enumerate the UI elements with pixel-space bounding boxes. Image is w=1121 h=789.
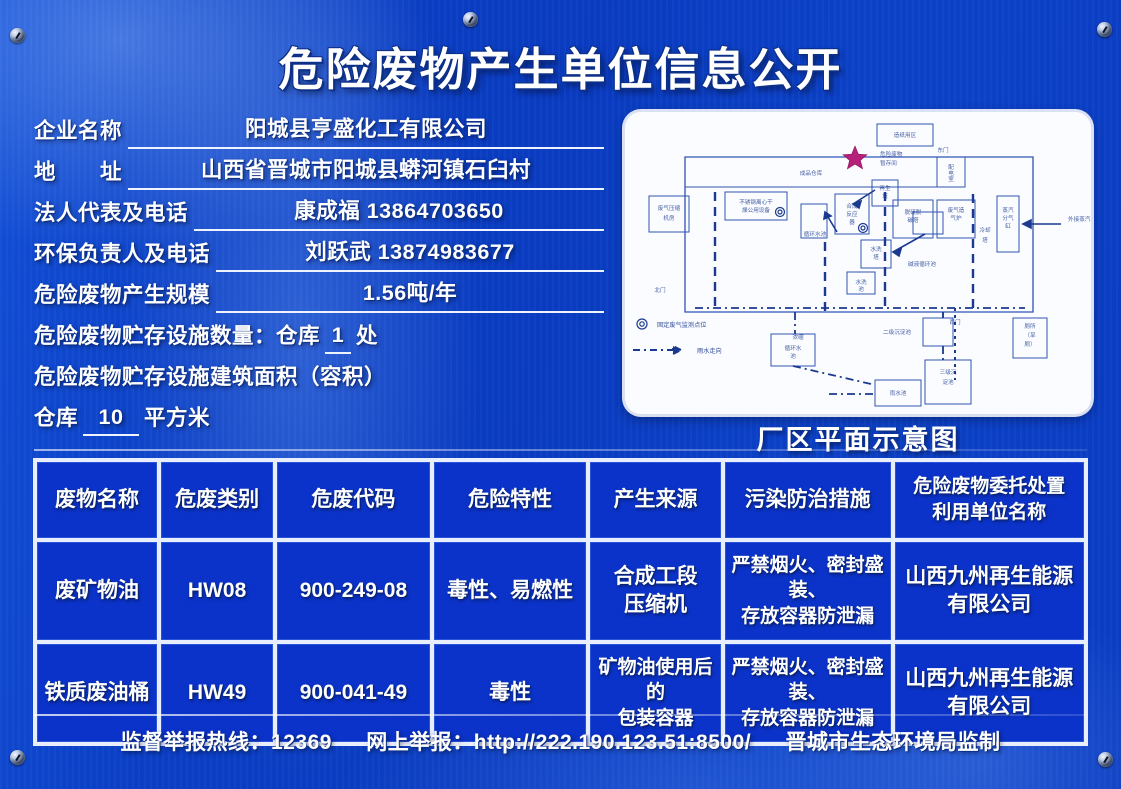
info-value-env-officer: 刘跃武 13874983677 xyxy=(216,235,604,272)
cell-waste-category: HW08 xyxy=(161,542,273,640)
cell-source: 合成工段 压缩机 xyxy=(590,542,720,640)
svg-text:废气造: 废气造 xyxy=(948,206,965,214)
info-unit-storage-area: 平方米 xyxy=(144,401,210,436)
footer-divider xyxy=(34,714,1087,716)
cell-measures-line1: 严禁烟火、密封盛装、 xyxy=(729,553,887,604)
hazardous-waste-room-marker xyxy=(843,146,867,169)
svg-text:脱硫脱: 脱硫脱 xyxy=(905,208,922,216)
svg-text:电: 电 xyxy=(948,169,954,177)
svg-text:池: 池 xyxy=(790,352,796,360)
info-label-storage-area: 危险废物贮存设施建筑面积（容积） xyxy=(34,360,386,395)
svg-text:塔: 塔 xyxy=(873,253,879,261)
th-entrusted-unit-line2: 利用单位名称 xyxy=(898,500,1081,526)
th-waste-code: 危废代码 xyxy=(277,462,430,538)
svg-text:浓缩: 浓缩 xyxy=(792,333,804,341)
svg-text:机房: 机房 xyxy=(663,214,675,222)
cell-entrusted-unit: 山西九州再生能源 有限公司 xyxy=(895,542,1084,640)
svg-text:水洗: 水洗 xyxy=(855,278,867,286)
svg-text:气炉: 气炉 xyxy=(950,214,962,222)
waste-table-head: 废物名称 危废类别 危废代码 危险特性 产生来源 污染防治措施 危险废物委托处置… xyxy=(37,462,1084,538)
info-row-company-name: 企业名称 阳城县亨盛化工有限公司 xyxy=(34,108,604,149)
info-row-storage-area-label: 危险废物贮存设施建筑面积（容积） xyxy=(34,354,604,395)
cell-measures: 严禁烟火、密封盛装、 存放容器防泄漏 xyxy=(725,542,891,640)
svg-text:废气压缩: 废气压缩 xyxy=(658,204,681,212)
info-row-address: 地 址 山西省晋城市阳城县蟒河镇石臼村 xyxy=(34,149,604,190)
th-waste-name: 废物名称 xyxy=(37,462,157,538)
waste-table-container: 废物名称 危废类别 危废代码 危险特性 产生来源 污染防治措施 危险废物委托处置… xyxy=(33,458,1088,746)
svg-text:三级沉: 三级沉 xyxy=(940,368,957,376)
svg-text:循环水: 循环水 xyxy=(785,344,802,352)
legend-monitor-point-label: 固定废气监测点位 xyxy=(657,321,707,329)
site-plan-legend: 固定废气监测点位 雨水走向 xyxy=(657,321,722,355)
cell-waste-code: 900-249-08 xyxy=(277,542,430,640)
svg-text:造纸用区: 造纸用区 xyxy=(894,131,917,139)
info-label-env-officer: 环保负责人及电话 xyxy=(34,237,210,272)
info-label-storage-count: 危险废物贮存设施数量：仓库 xyxy=(34,319,320,354)
info-value-storage-area: 10 xyxy=(83,405,139,436)
svg-text:北门: 北门 xyxy=(654,286,666,294)
svg-text:塔: 塔 xyxy=(982,236,988,244)
svg-text:碱液循环池: 碱液循环池 xyxy=(908,260,936,268)
info-row-storage-count: 危险废物贮存设施数量：仓库 1 处 xyxy=(34,313,604,354)
svg-text:厕所: 厕所 xyxy=(1024,322,1036,330)
table-row: 废矿物油 HW08 900-249-08 毒性、易燃性 合成工段 压缩机 严禁烟… xyxy=(37,542,1084,640)
info-value-address: 山西省晋城市阳城县蟒河镇石臼村 xyxy=(128,153,604,190)
footer-online-report: 网上举报：http://222.190.123.51:8500/ xyxy=(366,731,751,754)
th-measures: 污染防治措施 xyxy=(725,462,891,538)
svg-text:反应: 反应 xyxy=(846,210,858,218)
svg-text:（旱: （旱 xyxy=(1024,332,1036,339)
info-value-company-name: 阳城县亨盛化工有限公司 xyxy=(128,112,604,149)
cell-entrusted-line1: 山西九州再生能源 xyxy=(899,563,1080,591)
site-plan-image: 成品仓库 配电室 造纸用区 不锈钢离心干燥公用设备 循环水池 合成反应器 脱硫脱… xyxy=(625,112,1091,414)
svg-text:循环水池: 循环水池 xyxy=(804,230,827,238)
info-label-company-name: 企业名称 xyxy=(34,114,122,149)
cell-measures-line1: 严禁烟火、密封盛装、 xyxy=(729,655,887,706)
table-header-row: 废物名称 危废类别 危废代码 危险特性 产生来源 污染防治措施 危险废物委托处置… xyxy=(37,462,1084,538)
svg-text:分气: 分气 xyxy=(1002,214,1014,222)
svg-text:室: 室 xyxy=(948,175,954,183)
info-row-env-officer: 环保负责人及电话 刘跃武 13874983677 xyxy=(34,231,604,272)
svg-text:东门: 东门 xyxy=(937,146,949,154)
site-plan-container: 成品仓库 配电室 造纸用区 不锈钢离心干燥公用设备 循环水池 合成反应器 脱硫脱… xyxy=(625,112,1091,414)
svg-text:危险废物: 危险废物 xyxy=(880,150,903,158)
svg-text:西门: 西门 xyxy=(949,318,961,326)
info-unit-storage-count: 处 xyxy=(356,319,378,354)
svg-text:塔: 塔 xyxy=(882,192,888,200)
svg-text:合成: 合成 xyxy=(846,202,858,210)
svg-text:暂存间: 暂存间 xyxy=(880,159,897,167)
table-top-divider xyxy=(34,449,1087,451)
svg-text:二级沉淀池: 二级沉淀池 xyxy=(883,328,911,336)
info-value-generation-scale: 1.56吨/年 xyxy=(216,276,604,313)
cell-measures-line2: 存放容器防泄漏 xyxy=(729,604,887,630)
svg-text:蒸汽: 蒸汽 xyxy=(1002,206,1014,214)
info-label-address: 地 址 xyxy=(34,155,122,190)
svg-text:不锈钢离心干: 不锈钢离心干 xyxy=(739,198,773,206)
svg-text:缸: 缸 xyxy=(1005,222,1011,230)
cell-entrusted-line2: 有限公司 xyxy=(899,591,1080,619)
site-plan-caption: 厂区平面示意图 xyxy=(625,418,1091,457)
info-value-legal-rep: 康成福 13864703650 xyxy=(194,194,604,231)
company-info-block: 企业名称 阳城县亨盛化工有限公司 地 址 山西省晋城市阳城县蟒河镇石臼村 法人代… xyxy=(34,108,604,436)
cell-hazard-property: 毒性、易燃性 xyxy=(434,542,587,640)
svg-text:成品仓库: 成品仓库 xyxy=(800,169,823,177)
screw-top-center xyxy=(463,12,478,27)
th-waste-category: 危废类别 xyxy=(161,462,273,538)
svg-text:配: 配 xyxy=(948,164,954,171)
th-entrusted-unit-line1: 危险废物委托处置 xyxy=(898,474,1081,500)
footer-issuer: 晋城市生态环境局监制 xyxy=(785,731,1000,754)
cell-source-line1: 合成工段 xyxy=(594,563,716,591)
cell-source-line1: 矿物油使用后的 xyxy=(594,655,716,706)
info-value-storage-count: 1 xyxy=(325,323,351,354)
footer-hotline: 监督举报热线：12369 xyxy=(121,731,332,754)
waste-table-body: 废矿物油 HW08 900-249-08 毒性、易燃性 合成工段 压缩机 严禁烟… xyxy=(37,542,1084,742)
svg-text:池: 池 xyxy=(858,285,864,293)
svg-text:外接蒸汽: 外接蒸汽 xyxy=(1068,215,1091,223)
svg-text:碳塔: 碳塔 xyxy=(907,216,919,224)
waste-table: 废物名称 危废类别 危废代码 危险特性 产生来源 污染防治措施 危险废物委托处置… xyxy=(33,458,1088,746)
svg-text:水洗: 水洗 xyxy=(870,245,882,253)
information-board: 危险废物产生单位信息公开 企业名称 阳城县亨盛化工有限公司 地 址 山西省晋城市… xyxy=(0,0,1121,789)
svg-text:厕）: 厕） xyxy=(1024,341,1035,348)
info-label-legal-rep: 法人代表及电话 xyxy=(34,196,188,231)
th-hazard-property: 危险特性 xyxy=(434,462,587,538)
legend-rainwater-label: 雨水走向 xyxy=(697,347,722,355)
svg-text:器: 器 xyxy=(849,219,855,226)
info-row-storage-area-value: 仓库 10 平方米 xyxy=(34,395,604,436)
svg-text:雨水池: 雨水池 xyxy=(890,389,907,397)
footer: 监督举报热线：12369 网上举报：http://222.190.123.51:… xyxy=(0,726,1121,756)
th-source: 产生来源 xyxy=(590,462,720,538)
cell-entrusted-line2: 有限公司 xyxy=(899,693,1080,721)
th-entrusted-unit: 危险废物委托处置 利用单位名称 xyxy=(895,462,1084,538)
svg-text:再生: 再生 xyxy=(879,184,891,192)
site-plan-svg: 成品仓库 配电室 造纸用区 不锈钢离心干燥公用设备 循环水池 合成反应器 脱硫脱… xyxy=(625,112,1091,414)
info-label-generation-scale: 危险废物产生规模 xyxy=(34,278,210,313)
cell-source-line2: 压缩机 xyxy=(594,591,716,619)
cell-entrusted-line1: 山西九州再生能源 xyxy=(899,665,1080,693)
info-row-legal-rep: 法人代表及电话 康成福 13864703650 xyxy=(34,190,604,231)
cell-waste-name: 废矿物油 xyxy=(37,542,157,640)
svg-text:淀池: 淀池 xyxy=(942,378,954,386)
svg-text:燥公用设备: 燥公用设备 xyxy=(742,206,770,214)
svg-text:冷却: 冷却 xyxy=(979,226,991,234)
info-row-generation-scale: 危险废物产生规模 1.56吨/年 xyxy=(34,272,604,313)
info-label-warehouse: 仓库 xyxy=(34,401,78,436)
page-title: 危险废物产生单位信息公开 xyxy=(0,33,1121,98)
